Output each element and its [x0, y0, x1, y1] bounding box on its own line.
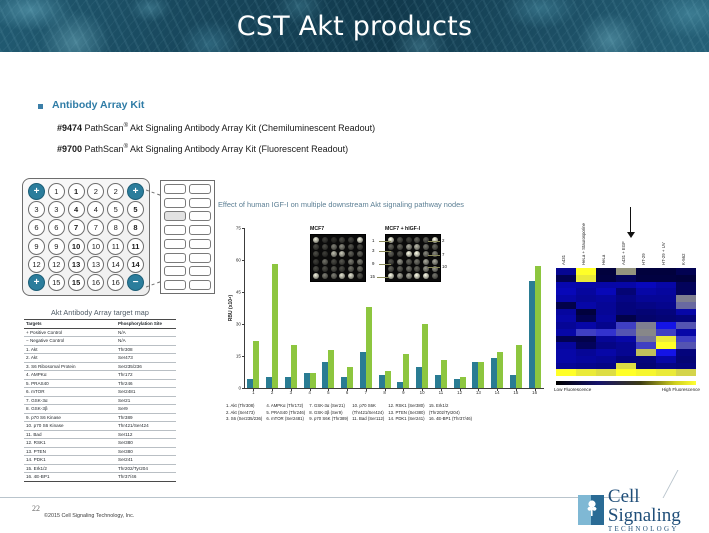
- target-map-table: TargetsPhosphorylation Site + Positive C…: [24, 319, 176, 482]
- inset-spot: [331, 237, 337, 243]
- target-name: 11. Bad: [24, 430, 116, 439]
- x-tick-label: 5: [319, 390, 338, 395]
- plate-row: +1122+: [28, 183, 144, 200]
- inset-spot: [313, 259, 319, 265]
- heatmap-cell: [656, 282, 676, 289]
- bar-mcf7-higf-i: [385, 371, 391, 388]
- inset-spot: [406, 237, 412, 243]
- key-entry: (Thr202/Tyr204): [429, 410, 472, 417]
- bar-mcf7-higf-i: [366, 307, 372, 388]
- bar-mcf7-higf-i: [272, 264, 278, 388]
- strip-well: [189, 198, 211, 208]
- callout-line: [428, 241, 440, 242]
- plate-control-spot: +: [127, 183, 144, 200]
- bar-mcf7-higf-i: [422, 324, 428, 388]
- heatmap-cell: [676, 275, 696, 282]
- inset-spot-row: [388, 237, 438, 243]
- heatmap-cell: [596, 356, 616, 363]
- heatmap-cell: [656, 309, 676, 316]
- slide-header: CST Akt products: [0, 0, 709, 52]
- product-code-9700: #9700: [57, 144, 82, 154]
- inset-spot: [432, 273, 438, 279]
- target-name: + Positive Control: [24, 328, 116, 337]
- phospho-site: Ser380: [116, 447, 176, 456]
- bar-mcf7-higf-i: [291, 345, 297, 388]
- plate-spot: 15: [68, 274, 85, 291]
- table-row: 11. BadSer112: [24, 430, 176, 439]
- product-desc-9474: Akt Signaling Antibody Array Kit (Chemil…: [128, 123, 375, 133]
- plate-spot: 6: [48, 219, 65, 236]
- inset-spot-grid: [311, 235, 365, 281]
- inset-spot: [388, 244, 394, 250]
- heatmap-cell: [656, 329, 676, 336]
- heatmap-cell: [576, 356, 596, 363]
- inset-spot: [339, 266, 345, 272]
- strip-row: [164, 211, 211, 221]
- key-entry: 7. GSK-3α (Ser21): [309, 403, 348, 410]
- heatmap-cell: [636, 268, 656, 275]
- bar-mcf7-higf-i: [328, 350, 334, 388]
- inset-callout-3: 3: [372, 248, 374, 253]
- heatmap-cell: [636, 282, 656, 289]
- heatmap-column: [576, 268, 596, 376]
- plate-spot: 14: [127, 256, 144, 273]
- heatmap-cell: [616, 295, 636, 302]
- heatmap-column-label: A431 + EGF: [621, 241, 626, 265]
- inset-spot: [414, 244, 420, 250]
- plate-spot: 3: [28, 201, 45, 218]
- heatmap-column: [676, 268, 696, 376]
- target-name: 10. p70 S6 Kinase: [24, 422, 116, 431]
- heatmap-cell: [596, 369, 616, 376]
- bar-mcf7-higf-i: [516, 345, 522, 388]
- y-axis-label: RBU (x10⁴): [228, 295, 234, 321]
- inset-spot: [397, 273, 403, 279]
- inset-spot: [322, 244, 328, 250]
- antibody-array-plate: +1122+3344556677889910101111121213131414…: [22, 178, 150, 296]
- bar-mcf7-higf-i: [441, 360, 447, 388]
- phospho-site: Ser473: [116, 354, 176, 363]
- inset-spot: [339, 273, 345, 279]
- key-entry: 3. S6 (Ser235/236): [226, 416, 262, 423]
- inset-spot: [397, 266, 403, 272]
- target-map-block: Akt Antibody Array target map TargetsPho…: [24, 308, 176, 482]
- x-tick-label: 10: [413, 390, 432, 395]
- heatmap-column-header: HeLa: [596, 205, 616, 267]
- heatmap-cell: [616, 342, 636, 349]
- plate-spot: 11: [127, 238, 144, 255]
- heatmap-column-header: HT-29 + UV: [656, 205, 676, 267]
- inset-spot-row: [388, 244, 438, 250]
- bullet-square-icon: [38, 104, 43, 109]
- x-tick-label: 4: [300, 390, 319, 395]
- callout-line: [379, 241, 391, 242]
- strip-well: [164, 198, 186, 208]
- x-axis-line: [244, 388, 544, 389]
- y-tick-label: 75: [236, 226, 241, 231]
- plate-spot: 11: [107, 238, 124, 255]
- inset-spot: [322, 237, 328, 243]
- plate-spot: 8: [127, 219, 144, 236]
- heatmap-cell: [616, 356, 636, 363]
- x-tick-label: 14: [488, 390, 507, 395]
- inset-spot-row: [313, 237, 363, 243]
- strip-well: [164, 211, 186, 221]
- heatmap-cell: [576, 363, 596, 370]
- bar-group: [507, 228, 526, 388]
- heatmap-cell: [556, 302, 576, 309]
- product-code-9474: #9474: [57, 123, 82, 133]
- heatmap-column-label: A431: [561, 255, 566, 265]
- heatmap-column-label: HT-29: [641, 253, 646, 265]
- product-name-9474: PathScan: [82, 123, 124, 133]
- inset-spot: [357, 244, 363, 250]
- heatmap-cell: [576, 322, 596, 329]
- strip-well: [164, 280, 186, 290]
- inset-spot: [423, 259, 429, 265]
- inset-spot: [339, 259, 345, 265]
- heatmap-cell: [576, 295, 596, 302]
- heatmap-cell: [676, 329, 696, 336]
- heatmap-cell: [676, 315, 696, 322]
- heatmap-cell: [636, 295, 656, 302]
- key-column: 4. AMPKα (Thr172)5. PRAS40 (Thr246)6. mT…: [266, 403, 305, 423]
- heatmap-cell: [596, 322, 616, 329]
- bar-mcf7-higf-i: [497, 352, 503, 388]
- inset-spot-row: [388, 259, 438, 265]
- heatmap-cell: [656, 342, 676, 349]
- strip-row: [164, 184, 211, 194]
- y-tick-label: 45: [236, 290, 241, 295]
- heatmap-column: [556, 268, 576, 376]
- inset-spot: [313, 266, 319, 272]
- plate-spot: 8: [107, 219, 124, 236]
- inset-spot: [432, 259, 438, 265]
- x-tick-label: 7: [357, 390, 376, 395]
- strip-well: [189, 225, 211, 235]
- strip-row: [164, 253, 211, 263]
- inset-spot: [331, 251, 337, 257]
- heatmap-cell: [636, 302, 656, 309]
- heatmap-cell: [636, 356, 656, 363]
- heatmap-cell: [616, 336, 636, 343]
- inset-spot: [357, 266, 363, 272]
- inset-spot: [414, 266, 420, 272]
- inset-spot: [313, 237, 319, 243]
- x-tick-label: 9: [394, 390, 413, 395]
- heatmap-cell: [656, 302, 676, 309]
- key-entry: 13. PTEN (Ser380): [388, 410, 425, 417]
- table-row: 7. GSK-3αSer21: [24, 396, 176, 405]
- plate-spot: 10: [68, 238, 85, 255]
- heatmap-column: [636, 268, 656, 376]
- heatmap-cell: [656, 349, 676, 356]
- bar-group: [244, 228, 263, 388]
- inset-spot-row: [313, 273, 363, 279]
- strip-well: [164, 225, 186, 235]
- target-name: 6. mTOR: [24, 388, 116, 397]
- plate-spot: 4: [87, 201, 104, 218]
- x-tick-label: 1: [244, 390, 263, 395]
- heatmap-cell: [556, 356, 576, 363]
- inset-spot: [322, 266, 328, 272]
- inset-spot-grid: [386, 235, 440, 281]
- slide-number: 22: [32, 504, 40, 513]
- inset-spot-row: [313, 266, 363, 272]
- plate-spot: 3: [48, 201, 65, 218]
- target-name: 3. S6 Ribosomal Protein: [24, 362, 116, 371]
- heatmap-cell: [616, 282, 636, 289]
- heatmap-cell: [636, 349, 656, 356]
- inset-spot: [414, 273, 420, 279]
- x-tick-label: 6: [338, 390, 357, 395]
- table-row: − Negative ControlN/A: [24, 337, 176, 346]
- plate-spot: 5: [107, 201, 124, 218]
- inset-spot: [339, 251, 345, 257]
- heatmap-cell: [676, 336, 696, 343]
- y-tick-label: 60: [236, 258, 241, 263]
- heatmap-cell: [556, 329, 576, 336]
- bar-mcf7-higf-i: [347, 367, 353, 388]
- key-entry: 15. Erk1/2: [429, 403, 472, 410]
- multiwell-strip: [160, 180, 215, 294]
- heatmap-cell: [576, 369, 596, 376]
- chart-plot-area: RBU (x10⁴) 01530456075 12345678910111213…: [244, 228, 544, 388]
- inset-spot: [339, 237, 345, 243]
- phospho-site: Thr246: [116, 379, 176, 388]
- heatmap-cell: [636, 309, 656, 316]
- heatmap-cell: [636, 363, 656, 370]
- phospho-site: Ser235/236: [116, 362, 176, 371]
- inset-callout-1: 1: [372, 238, 374, 243]
- x-tick-label: 12: [450, 390, 469, 395]
- strip-well: [164, 253, 186, 263]
- heatmap-cell: [676, 369, 696, 376]
- inset-spot: [397, 251, 403, 257]
- heatmap-cell: [656, 268, 676, 275]
- strip-row: [164, 239, 211, 249]
- inset-spot: [406, 259, 412, 265]
- inset-callout-7: 7: [442, 252, 444, 257]
- key-column: 1. Akt (Thr308)2. Akt (Ser473)3. S6 (Ser…: [226, 403, 262, 423]
- inset-spot: [423, 244, 429, 250]
- key-entry: 16. 4E-BP1 (Thr37/46): [429, 416, 472, 423]
- x-axis-labels: 12345678910111213141516: [244, 390, 544, 395]
- plate-spot: 1: [48, 183, 65, 200]
- table-row: 1. AktThr308: [24, 345, 176, 354]
- target-name: 2. Akt: [24, 354, 116, 363]
- heatmap-cell: [556, 282, 576, 289]
- key-entry: 1. Akt (Thr308): [226, 403, 262, 410]
- table-row: 3. S6 Ribosomal ProteinSer235/236: [24, 362, 176, 371]
- bar-group: [469, 228, 488, 388]
- strip-well: [189, 280, 211, 290]
- heatmap-column-header: HeLa + Staurosporine: [576, 205, 596, 267]
- heatmap-cell: [636, 288, 656, 295]
- plate-spot: 12: [28, 256, 45, 273]
- bar-mcf7-higf-i: [310, 373, 316, 388]
- inset-spot: [348, 251, 354, 257]
- inset-spot: [388, 273, 394, 279]
- bullet-block: Antibody Array Kit #9474 PathScan® Akt S…: [38, 99, 375, 154]
- bullet-heading-row: Antibody Array Kit: [38, 99, 375, 111]
- bar-group: [282, 228, 301, 388]
- target-name: 12. RSK1: [24, 439, 116, 448]
- table-row: + Positive ControlN/A: [24, 328, 176, 337]
- table-header-row: TargetsPhosphorylation Site: [24, 320, 176, 329]
- heatmap-cell: [616, 363, 636, 370]
- heatmap-cell: [596, 315, 616, 322]
- heatmap-cell: [596, 275, 616, 282]
- inset-spot: [414, 237, 420, 243]
- target-map-title: Akt Antibody Array target map: [24, 308, 176, 317]
- inset-spot: [388, 266, 394, 272]
- plate-spot: 2: [107, 183, 124, 200]
- plate-grid: +1122+3344556677889910101111121213131414…: [22, 178, 150, 296]
- logo-tagline: TECHNOLOGY: [608, 525, 709, 533]
- x-tick-label: 15: [507, 390, 526, 395]
- heatmap-cell: [596, 302, 616, 309]
- inset-spot: [357, 251, 363, 257]
- table-row: 9. p70 S6 KinaseThr389: [24, 413, 176, 422]
- heatmap-column-label: HeLa + Staurosporine: [581, 223, 586, 265]
- heatmap-grid: [556, 268, 696, 376]
- phospho-site: Thr172: [116, 371, 176, 380]
- inset-spot: [432, 244, 438, 250]
- plate-spot: 1: [68, 183, 85, 200]
- inset-spot-row: [388, 273, 438, 279]
- key-entry: 10. p70 S6K: [352, 403, 384, 410]
- inset-spot: [348, 244, 354, 250]
- target-name: 5. PRAS40: [24, 379, 116, 388]
- heatmap-cell: [556, 349, 576, 356]
- column-header: Targets: [24, 320, 116, 329]
- bar-mcf7-higf-i: [460, 377, 466, 388]
- inset-spot: [322, 251, 328, 257]
- heatmap-cell: [676, 268, 696, 275]
- heatmap-cell: [656, 363, 676, 370]
- table-row: 8. GSK-3βSer9: [24, 405, 176, 414]
- table-row: 13. PTENSer380: [24, 447, 176, 456]
- callout-line: [428, 267, 440, 268]
- target-name: 8. GSK-3β: [24, 405, 116, 414]
- target-name: 9. p70 S6 Kinase: [24, 413, 116, 422]
- cst-logo: Cell Signaling TECHNOLOGY: [578, 487, 709, 533]
- plate-spot: 2: [87, 183, 104, 200]
- heatmap-cell: [616, 329, 636, 336]
- heatmap-column-header: HT-29: [636, 205, 656, 267]
- inset-spot: [397, 244, 403, 250]
- inset-spot: [414, 259, 420, 265]
- heatmap-cell: [676, 349, 696, 356]
- inset-spot: [388, 251, 394, 257]
- key-column: 7. GSK-3α (Ser21)8. GSK-3β (Ser9)9. p70 …: [309, 403, 348, 423]
- heatmap-cell: [636, 322, 656, 329]
- heatmap-cell: [576, 329, 596, 336]
- inset-spot: [406, 273, 412, 279]
- inset-spot: [414, 251, 420, 257]
- key-entry: (Thr421/Ser424): [352, 410, 384, 417]
- tree-icon: [578, 495, 604, 525]
- heatmap-cell: [576, 309, 596, 316]
- plate-spot: 16: [107, 274, 124, 291]
- heatmap-cell: [676, 356, 696, 363]
- heatmap-cell: [616, 322, 636, 329]
- target-name: 15. Erk1/2: [24, 464, 116, 473]
- copyright-text: ©2015 Cell Signaling Technology, Inc.: [44, 513, 134, 519]
- inset-spot: [313, 244, 319, 250]
- heatmap-cell: [676, 322, 696, 329]
- heatmap-cell: [576, 268, 596, 275]
- key-entry: 4. AMPKα (Thr172): [266, 403, 305, 410]
- table-row: 15. Erk1/2Thr202/Tyr204: [24, 464, 176, 473]
- plate-control-spot: −: [127, 274, 144, 291]
- callout-line: [379, 251, 391, 252]
- heatmap-cell: [636, 329, 656, 336]
- x-tick-label: 11: [432, 390, 451, 395]
- phospho-site: Thr37/46: [116, 473, 176, 482]
- heatmap-cell: [596, 349, 616, 356]
- y-tick-label: 30: [236, 322, 241, 327]
- heatmap-cell: [556, 336, 576, 343]
- table-row: 2. AktSer473: [24, 354, 176, 363]
- heatmap-cell: [656, 288, 676, 295]
- bullet-heading: Antibody Array Kit: [52, 99, 144, 111]
- target-name: 14. PDK1: [24, 456, 116, 465]
- inset-spot: [313, 273, 319, 279]
- inset-callout-10: 10: [442, 264, 447, 269]
- plate-spot: 13: [87, 256, 104, 273]
- heatmap-cell: [576, 336, 596, 343]
- phospho-site: N/A: [116, 337, 176, 346]
- phospho-site: Ser21: [116, 396, 176, 405]
- heatmap-cell: [656, 275, 676, 282]
- plate-spot: 9: [28, 238, 45, 255]
- strip-well: [189, 253, 211, 263]
- inset-spot: [339, 244, 345, 250]
- heatmap-cell: [656, 295, 676, 302]
- inset-spot: [348, 273, 354, 279]
- heatmap-panel: A431HeLa + StaurosporineHeLaA431 + EGFHT…: [552, 205, 702, 410]
- key-entry: 6. mTOR (Ser2481): [266, 416, 305, 423]
- heatmap-cell: [636, 342, 656, 349]
- strip-well: [164, 184, 186, 194]
- phospho-site: Ser9: [116, 405, 176, 414]
- heatmap-cell: [596, 336, 616, 343]
- inset-spot: [406, 251, 412, 257]
- product-line-9474: #9474 PathScan® Akt Signaling Antibody A…: [57, 123, 375, 133]
- y-tick-label: 15: [236, 354, 241, 359]
- heatmap-cell: [596, 363, 616, 370]
- strip-row: [164, 280, 211, 290]
- heatmap-cell: [616, 349, 636, 356]
- heatmap-cell: [616, 309, 636, 316]
- strip-well: [164, 266, 186, 276]
- plate-control-spot: +: [28, 274, 45, 291]
- plate-spot: 15: [48, 274, 65, 291]
- key-column: 15. Erk1/2(Thr202/Tyr204)16. 4E-BP1 (Thr…: [429, 403, 472, 423]
- heatmap-cell: [576, 275, 596, 282]
- heatmap-cell: [556, 288, 576, 295]
- heatmap-cell: [556, 342, 576, 349]
- heatmap-cell: [556, 363, 576, 370]
- inset-spot: [331, 266, 337, 272]
- logo-wordmark: Cell Signaling: [608, 487, 709, 525]
- phospho-site: Thr421/Ser424: [116, 422, 176, 431]
- inset-caption-mcf7: MCF7: [310, 226, 324, 232]
- table-row: 10. p70 S6 KinaseThr421/Ser424: [24, 422, 176, 431]
- bar-chart-panel: Effect of human IGF-I on multiple downst…: [210, 200, 545, 450]
